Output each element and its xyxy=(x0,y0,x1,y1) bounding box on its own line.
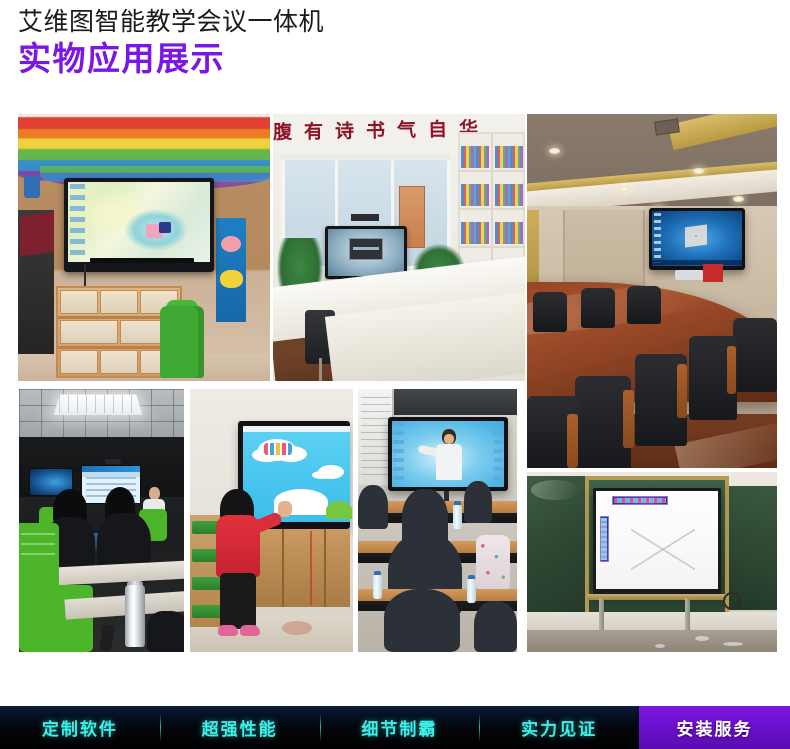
audience-member xyxy=(464,481,492,523)
red-box xyxy=(703,264,723,282)
ceiling-downlight xyxy=(693,168,704,174)
floor-stain xyxy=(282,621,312,635)
gallery-photo-office-training[interactable] xyxy=(19,389,184,652)
child-legs xyxy=(220,573,256,629)
chalkboard-glare xyxy=(531,480,579,500)
nav-item-proof[interactable]: 实力见证 xyxy=(479,706,639,749)
video-camera xyxy=(105,459,121,464)
chair-armrest xyxy=(567,414,578,468)
cable-coil xyxy=(723,592,741,610)
floor-debris xyxy=(723,642,743,646)
board-text-lines xyxy=(361,397,391,477)
photo-scene xyxy=(190,389,353,652)
lamp-louvers xyxy=(59,395,137,413)
shelf-cell xyxy=(100,290,138,314)
cloud-decor xyxy=(318,465,344,479)
floor xyxy=(527,630,777,652)
leather-chair xyxy=(733,318,777,392)
shelf-cell xyxy=(100,350,138,374)
desktop-icons-column xyxy=(654,213,661,263)
leather-chair xyxy=(581,288,615,328)
chair-slat xyxy=(21,533,55,535)
cabinet-seam xyxy=(324,529,326,607)
photo-scene xyxy=(527,472,777,652)
green-chair xyxy=(19,585,93,652)
shelf-cell xyxy=(60,320,118,344)
chair-slat xyxy=(21,543,55,545)
gallery-photo-library-reading-room[interactable]: 腹有诗书气自华 xyxy=(273,114,525,381)
child-shoe xyxy=(218,625,238,636)
display-stand-top xyxy=(351,214,379,221)
photo-scene xyxy=(527,114,777,468)
shelf-cell xyxy=(60,350,98,374)
chair-slat xyxy=(21,553,55,555)
chair-armrest xyxy=(623,390,634,448)
nav-item-installation-service[interactable]: 安装服务 xyxy=(639,706,790,749)
books-row xyxy=(461,222,489,244)
child-red-hoodie xyxy=(216,515,260,577)
whiteboard-drawing xyxy=(631,524,695,574)
gallery-photo-classroom-whiteboard[interactable] xyxy=(527,472,777,652)
photo-scene xyxy=(358,389,517,652)
photo-scene xyxy=(19,389,184,652)
books-row xyxy=(495,184,523,206)
nav-item-custom-software[interactable]: 定制软件 xyxy=(0,706,160,749)
water-bottle xyxy=(453,505,462,529)
desktop-icons-column-right xyxy=(494,422,503,480)
audience-member-front xyxy=(474,601,517,652)
bag xyxy=(147,611,184,652)
books-row xyxy=(495,146,523,168)
audience-member xyxy=(358,485,388,529)
gallery-photo-child-touch[interactable] xyxy=(190,389,353,652)
child-shoe xyxy=(240,625,260,636)
nav-item-details[interactable]: 细节制霸 xyxy=(320,706,480,749)
presenter-body xyxy=(436,444,462,480)
screen-window-line xyxy=(353,247,379,250)
whiteboard-sidebar-icons xyxy=(601,518,607,560)
water-bottle xyxy=(467,579,476,603)
desktop-taskbar xyxy=(652,260,742,265)
audience-member-front xyxy=(384,589,460,652)
photo-scene: 腹有诗书气自华 xyxy=(273,114,525,381)
window-rail xyxy=(281,154,451,160)
ceiling-downlight xyxy=(549,148,560,154)
books-row xyxy=(461,146,489,168)
desktop-icons-column xyxy=(393,422,404,484)
display-screen xyxy=(68,182,210,262)
leather-chair xyxy=(533,292,567,332)
gallery-photo-kindergarten-rainbow[interactable] xyxy=(18,114,270,381)
thermos-flask xyxy=(125,585,145,647)
chair-armrest xyxy=(727,346,736,394)
gallery-photo-seminar[interactable] xyxy=(358,389,517,652)
poster-blob-decor xyxy=(220,270,243,288)
nav-item-performance[interactable]: 超强性能 xyxy=(160,706,320,749)
photo-scene xyxy=(18,114,270,381)
ceiling-downlight xyxy=(619,186,630,192)
chair-leg xyxy=(319,358,322,381)
product-detail-page: 艾维图智能教学会议一体机 实物应用展示 xyxy=(0,0,790,749)
desk-device xyxy=(675,270,703,280)
windows-logo-wallpaper xyxy=(685,224,707,247)
chair-armrest xyxy=(677,364,687,418)
ceiling-downlight xyxy=(733,196,744,202)
red-marker-line xyxy=(310,531,312,605)
wall-calligraphy: 腹有诗书气自华 xyxy=(273,114,463,149)
screen-mascot-blue xyxy=(159,222,171,233)
audience-member-floral xyxy=(476,535,510,589)
presenter-face xyxy=(444,434,454,444)
screen-toolbar xyxy=(243,426,350,432)
green-chair xyxy=(160,306,204,378)
hill-decor xyxy=(326,501,352,519)
red-cloth xyxy=(20,212,54,257)
water-bottle xyxy=(373,575,382,599)
feature-nav-bar: 定制软件 超强性能 细节制霸 实力见证 安装服务 xyxy=(0,706,790,749)
floor-debris xyxy=(695,636,709,641)
books-row xyxy=(461,184,489,206)
photo-gallery: 腹有诗书气自华 xyxy=(0,0,790,660)
chalk-tray xyxy=(587,594,727,600)
screen-titlebar xyxy=(82,466,140,472)
cabinet-seam xyxy=(282,529,284,607)
wall-strip xyxy=(394,389,517,415)
gallery-photo-boardroom[interactable] xyxy=(527,114,777,468)
floor-debris xyxy=(655,644,665,648)
shelf-cell xyxy=(60,290,98,314)
leather-chair xyxy=(627,286,661,324)
desktop-icons-column xyxy=(70,184,85,260)
app-icons xyxy=(264,443,292,455)
child-hand xyxy=(278,501,292,517)
display-bottom-bar xyxy=(90,258,194,263)
books-row xyxy=(495,222,523,244)
whiteboard-toolbar-icons xyxy=(614,498,666,503)
wall-sticker-child xyxy=(24,176,40,198)
poster-face-decor xyxy=(221,236,241,252)
